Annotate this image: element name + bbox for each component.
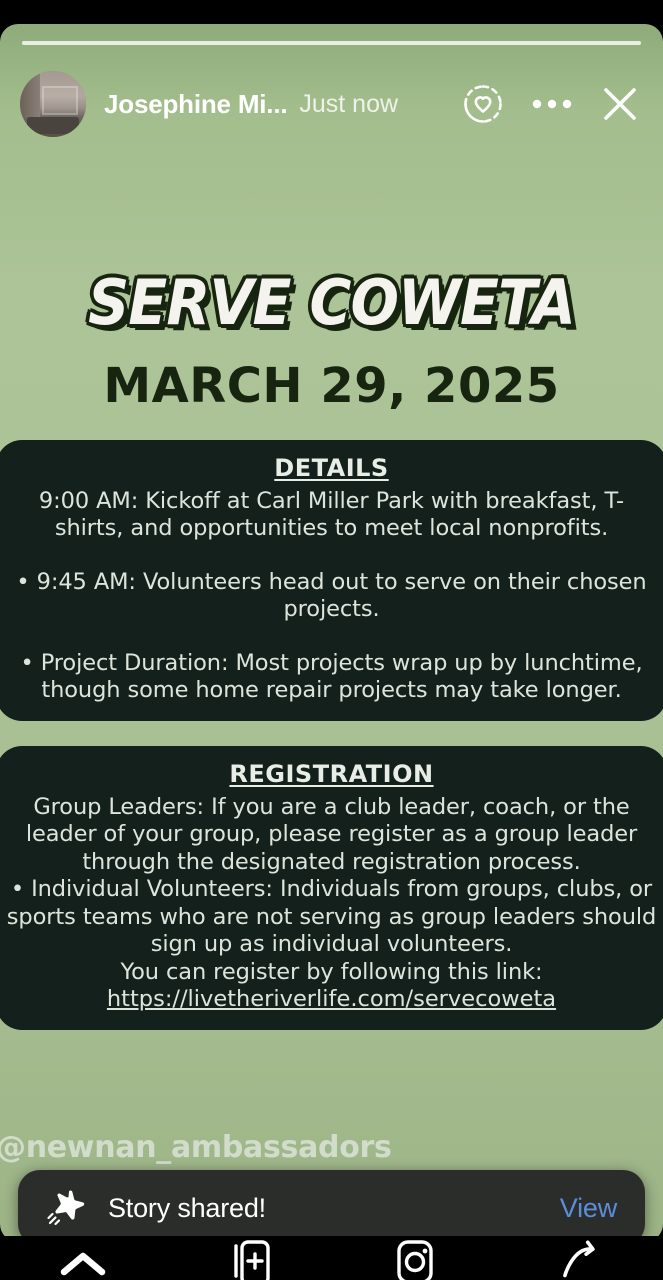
nav-item-add-to-story[interactable] bbox=[166, 1236, 332, 1280]
avatar[interactable] bbox=[20, 71, 86, 137]
story-card[interactable]: Josephine Mi... Just now bbox=[0, 24, 663, 1242]
registration-link[interactable]: https://livetheriverlife.com/servecoweta bbox=[2, 986, 661, 1013]
story-username[interactable]: Josephine Mi... bbox=[104, 89, 287, 120]
poster-title: SERVE COWETA bbox=[27, 272, 637, 334]
details-card-spacer bbox=[2, 543, 661, 569]
details-card: DETAILS 9:00 AM: Kickoff at Carl Miller … bbox=[0, 440, 663, 721]
registration-card-line: You can register by following this link: bbox=[2, 959, 661, 986]
story-shared-toast: Story shared! View bbox=[18, 1170, 645, 1242]
nav-item-share[interactable] bbox=[497, 1236, 663, 1280]
story-timestamp: Just now bbox=[299, 90, 398, 119]
avatar-photo-detail-frame bbox=[42, 86, 78, 115]
toast-view-link[interactable]: View bbox=[560, 1193, 617, 1224]
registration-card: REGISTRATION Group Leaders: If you are a… bbox=[0, 746, 663, 1030]
nav-item-swipe-up[interactable] bbox=[0, 1236, 166, 1280]
avatar-photo-detail-furniture bbox=[27, 117, 80, 134]
story-progress-fill bbox=[22, 41, 641, 45]
share-icon bbox=[551, 1240, 609, 1280]
details-card-spacer bbox=[2, 624, 661, 650]
add-to-highlights-icon[interactable] bbox=[461, 82, 505, 126]
camera-icon bbox=[385, 1240, 443, 1280]
nav-item-camera[interactable] bbox=[332, 1236, 498, 1280]
add-to-story-icon bbox=[220, 1240, 278, 1280]
toast-message: Story shared! bbox=[108, 1193, 266, 1224]
story-header-actions bbox=[461, 82, 641, 126]
bottom-nav bbox=[0, 1236, 663, 1280]
details-card-heading: DETAILS bbox=[2, 454, 661, 482]
shooting-star-icon bbox=[42, 1185, 88, 1231]
story-viewer-screen: Josephine Mi... Just now bbox=[0, 0, 663, 1280]
details-card-line: • Project Duration: Most projects wrap u… bbox=[2, 650, 661, 705]
story-handle-text: @newnan_ambassadors bbox=[0, 1130, 392, 1165]
more-options-icon[interactable] bbox=[530, 97, 574, 111]
registration-card-line: • Individual Volunteers: Individuals fro… bbox=[2, 876, 661, 958]
story-header: Josephine Mi... Just now bbox=[0, 64, 663, 144]
avatar-photo-detail-wall bbox=[20, 71, 40, 117]
registration-card-line: Group Leaders: If you are a club leader,… bbox=[2, 794, 661, 876]
chevron-up-icon bbox=[54, 1246, 112, 1280]
registration-card-heading: REGISTRATION bbox=[2, 760, 661, 788]
details-card-line: 9:00 AM: Kickoff at Carl Miller Park wit… bbox=[2, 488, 661, 543]
story-progress-bar bbox=[22, 41, 641, 45]
close-icon[interactable] bbox=[599, 83, 641, 125]
details-card-line: • 9:45 AM: Volunteers head out to serve … bbox=[2, 569, 661, 624]
poster-date: MARCH 29, 2025 bbox=[0, 362, 663, 410]
